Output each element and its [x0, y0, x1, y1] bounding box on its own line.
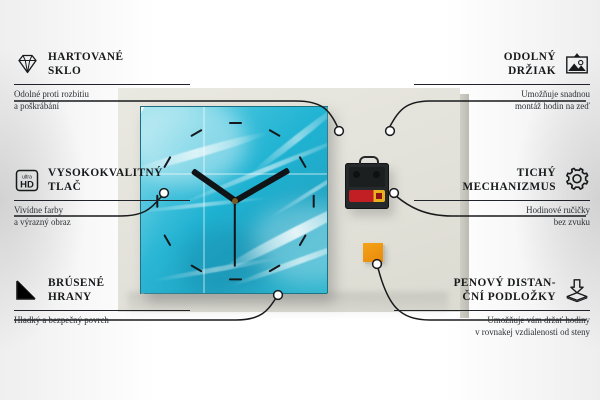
feature-header: HARTOVANÉ SKLO — [14, 50, 190, 79]
feature-beveled-edges: BRÚSENÉ HRANY Hladký a bezpečný povrch — [14, 276, 190, 327]
feature-divider — [414, 200, 590, 201]
mechanism-hook — [359, 156, 379, 167]
feature-header: ODOLNÝ DRŽIAK — [414, 50, 590, 79]
foam-distance-pad — [363, 243, 383, 262]
mechanism-hole — [373, 171, 380, 178]
infographic-canvas: HARTOVANÉ SKLO Odolné proti rozbitiu a p… — [0, 0, 600, 400]
feature-description: Vivídne farby a výrazný obraz — [14, 205, 190, 229]
foam-pad-icon — [564, 277, 590, 303]
feature-divider — [394, 310, 590, 311]
feature-divider — [414, 84, 590, 85]
picture-hanger-icon — [564, 51, 590, 77]
ultra-hd-icon: ultra HD — [14, 167, 40, 193]
feature-durable-hanger: ODOLNÝ DRŽIAK Umožňuje snadnou montáž ho… — [414, 50, 590, 113]
clock-tick — [229, 278, 242, 280]
feature-title: VYSOKOKVALITNÝ TLAČ — [48, 166, 163, 195]
feature-header: BRÚSENÉ HRANY — [14, 276, 190, 305]
mechanism-hole — [353, 171, 360, 178]
feature-description: Umožňuje vám držať hodiny v rovnakej vzd… — [394, 315, 590, 339]
feature-title: TICHÝ MECHANIZMUS — [463, 166, 556, 195]
feature-description: Odolné proti rozbitiu a poškrábání — [14, 89, 190, 113]
clock-mechanism — [345, 163, 389, 209]
feature-header: ultra HD VYSOKOKVALITNÝ TLAČ — [14, 166, 190, 195]
feature-header: TICHÝ MECHANIZMUS — [414, 166, 590, 195]
feature-foam-spacers: PENOVÝ DISTAN- ČNÍ PODLOŽKY Umožňuje vám… — [394, 276, 590, 339]
clock-second-hand — [234, 201, 236, 267]
mechanism-battery — [349, 190, 385, 202]
clock-tick — [312, 194, 314, 207]
feature-divider — [14, 84, 190, 85]
feature-description: Hladký a bezpečný povrch — [14, 315, 190, 327]
feature-hardened-glass: HARTOVANÉ SKLO Odolné proti rozbitiu a p… — [14, 50, 190, 113]
feature-divider — [14, 200, 190, 201]
gear-icon — [564, 167, 590, 193]
beveled-edge-icon — [14, 277, 40, 303]
feature-title: ODOLNÝ DRŽIAK — [504, 50, 556, 79]
clock-center-pin — [232, 198, 238, 204]
diamond-icon — [14, 51, 40, 77]
feature-header: PENOVÝ DISTAN- ČNÍ PODLOŽKY — [394, 276, 590, 305]
feature-description: Hodinové ručičky bez zvuku — [414, 205, 590, 229]
svg-text:HD: HD — [20, 179, 34, 190]
feature-description: Umožňuje snadnou montáž hodin na zeď — [414, 89, 590, 113]
feature-divider — [14, 310, 190, 311]
feature-title: PENOVÝ DISTAN- ČNÍ PODLOŽKY — [454, 276, 556, 305]
feature-high-quality-print: ultra HD VYSOKOKVALITNÝ TLAČ Vivídne far… — [14, 166, 190, 229]
feature-silent-mechanism: TICHÝ MECHANIZMUS Hodinové ručičky bez z… — [414, 166, 590, 229]
feature-title: BRÚSENÉ HRANY — [48, 276, 105, 305]
feature-title: HARTOVANÉ SKLO — [48, 50, 123, 79]
